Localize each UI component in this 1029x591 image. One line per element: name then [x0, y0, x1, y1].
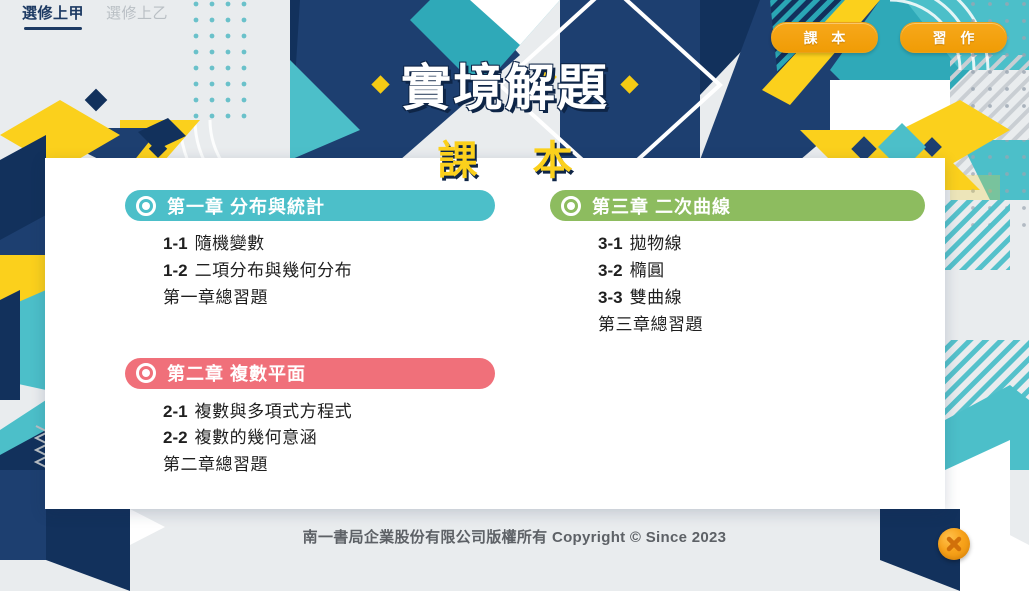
- chapter-2-title: 第二章 複數平面: [167, 360, 306, 386]
- section-number: 2-1: [163, 399, 188, 426]
- tab-xuanxiu-shang-jia[interactable]: 選修上甲: [18, 4, 88, 33]
- tab-label: 選修上乙: [106, 5, 168, 22]
- list-item[interactable]: 1-2 二項分布與幾何分布: [163, 258, 505, 285]
- section-title: 橢圓: [630, 258, 665, 285]
- list-item[interactable]: 第三章總習題: [598, 312, 945, 339]
- list-item[interactable]: 1-1 隨機變數: [163, 231, 505, 258]
- tab-xuanxiu-shang-yi[interactable]: 選修上乙: [102, 4, 172, 33]
- section-title: 複數的幾何意涵: [195, 425, 318, 452]
- chapter-2-section-list: 2-1 複數與多項式方程式 2-2 複數的幾何意涵 第二章總習題: [125, 399, 505, 480]
- textbook-button[interactable]: 課 本: [771, 22, 878, 53]
- section-title: 第三章總習題: [598, 312, 703, 339]
- section-number: 3-2: [598, 258, 623, 285]
- list-item[interactable]: 第一章總習題: [163, 285, 505, 312]
- workbook-button[interactable]: 習 作: [900, 22, 1007, 53]
- section-title: 複數與多項式方程式: [195, 399, 353, 426]
- close-button[interactable]: [938, 528, 970, 560]
- chapter-block-3: 第三章 二次曲線 3-1 拋物線 3-2 橢圓 3-3 雙曲線: [550, 190, 945, 338]
- chapter-1-section-list: 1-1 隨機變數 1-2 二項分布與幾何分布 第一章總習題: [125, 231, 505, 312]
- chapter-3-header[interactable]: 第三章 二次曲線: [550, 190, 925, 221]
- list-item[interactable]: 第二章總習題: [163, 452, 505, 479]
- section-number: 2-2: [163, 425, 188, 452]
- chapter-1-title: 第一章 分布與統計: [167, 193, 325, 219]
- target-ring-icon: [561, 196, 581, 216]
- section-title: 二項分布與幾何分布: [195, 258, 353, 285]
- close-icon: [938, 528, 970, 560]
- section-title: 雙曲線: [630, 285, 683, 312]
- section-title: 拋物線: [630, 231, 683, 258]
- list-item[interactable]: 3-3 雙曲線: [598, 285, 945, 312]
- list-item[interactable]: 3-1 拋物線: [598, 231, 945, 258]
- copyright-footer: 南一書局企業股份有限公司版權所有 Copyright © Since 2023: [0, 526, 1029, 547]
- list-item[interactable]: 2-2 複數的幾何意涵: [163, 425, 505, 452]
- chapter-1-header[interactable]: 第一章 分布與統計: [125, 190, 495, 221]
- chapter-block-2: 第二章 複數平面 2-1 複數與多項式方程式 2-2 複數的幾何意涵 第二章總習…: [125, 358, 505, 480]
- chapter-3-section-list: 3-1 拋物線 3-2 橢圓 3-3 雙曲線 第三章總習題: [550, 231, 945, 338]
- list-item[interactable]: 2-1 複數與多項式方程式: [163, 399, 505, 426]
- chapter-list-card: 第一章 分布與統計 1-1 隨機變數 1-2 二項分布與幾何分布 第一章總習題: [45, 158, 945, 509]
- resource-type-buttons: 課 本 習 作: [771, 22, 1007, 53]
- right-column: 第三章 二次曲線 3-1 拋物線 3-2 橢圓 3-3 雙曲線: [505, 158, 945, 509]
- chapter-2-header[interactable]: 第二章 複數平面: [125, 358, 495, 389]
- chapter-block-1: 第一章 分布與統計 1-1 隨機變數 1-2 二項分布與幾何分布 第一章總習題: [125, 190, 505, 312]
- section-number: 3-3: [598, 285, 623, 312]
- tab-active-underline: [24, 27, 82, 30]
- section-title: 第二章總習題: [163, 452, 268, 479]
- target-ring-icon: [136, 196, 156, 216]
- app-root: 選修上甲 選修上乙 課 本 習 作 實境解題 課 本 第一章 分布與統計: [0, 0, 1029, 591]
- section-title: 第一章總習題: [163, 285, 268, 312]
- section-number: 1-2: [163, 258, 188, 285]
- book-volume-tabs: 選修上甲 選修上乙: [18, 4, 172, 33]
- left-column: 第一章 分布與統計 1-1 隨機變數 1-2 二項分布與幾何分布 第一章總習題: [45, 158, 505, 509]
- chapter-3-title: 第三章 二次曲線: [592, 193, 731, 219]
- tab-label: 選修上甲: [22, 5, 84, 22]
- section-number: 1-1: [163, 231, 188, 258]
- section-number: 3-1: [598, 231, 623, 258]
- list-item[interactable]: 3-2 橢圓: [598, 258, 945, 285]
- target-ring-icon: [136, 363, 156, 383]
- section-title: 隨機變數: [195, 231, 265, 258]
